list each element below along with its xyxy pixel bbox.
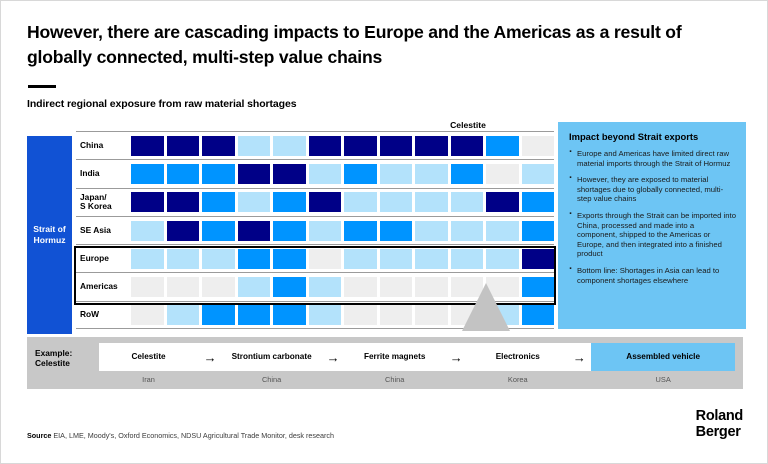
matrix-cell bbox=[380, 305, 413, 325]
matrix-cell bbox=[238, 305, 271, 325]
matrix-cell bbox=[273, 192, 306, 212]
matrix-cell bbox=[344, 249, 377, 269]
matrix-row-cells bbox=[131, 192, 554, 212]
matrix-cell bbox=[344, 277, 377, 297]
chain-step-country: USA bbox=[591, 375, 735, 384]
matrix-cell bbox=[167, 305, 200, 325]
matrix-cell bbox=[167, 192, 200, 212]
matrix-cell bbox=[380, 221, 413, 241]
matrix-cell bbox=[522, 305, 555, 325]
matrix-cell bbox=[202, 305, 235, 325]
matrix-cell bbox=[202, 136, 235, 156]
matrix-cell bbox=[451, 192, 484, 212]
matrix-cell bbox=[131, 249, 164, 269]
impact-panel: Impact beyond Strait exports Europe and … bbox=[558, 122, 746, 329]
chain-step-country: Korea bbox=[468, 375, 567, 384]
matrix-cell bbox=[486, 249, 519, 269]
matrix-cell bbox=[380, 164, 413, 184]
matrix-cell bbox=[522, 221, 555, 241]
matrix-cell bbox=[486, 164, 519, 184]
matrix-cell bbox=[131, 192, 164, 212]
matrix-cell bbox=[131, 136, 164, 156]
matrix-cell bbox=[451, 164, 484, 184]
celestite-pointer-triangle bbox=[462, 283, 510, 331]
matrix-cell bbox=[380, 192, 413, 212]
matrix-cell bbox=[273, 164, 306, 184]
matrix-cell bbox=[309, 136, 342, 156]
matrix-row-cells bbox=[131, 164, 554, 184]
matrix-row-cells bbox=[131, 136, 554, 156]
title-divider bbox=[28, 85, 56, 88]
slide-canvas: However, there are cascading impacts to … bbox=[0, 0, 768, 464]
matrix-row-label: China bbox=[76, 141, 131, 151]
matrix-cell bbox=[131, 164, 164, 184]
matrix-cell bbox=[522, 164, 555, 184]
matrix-row-cells bbox=[131, 221, 554, 241]
chain-arrow-icon: → bbox=[198, 343, 222, 371]
matrix-cell bbox=[415, 192, 448, 212]
matrix-row: Japan/S Korea bbox=[76, 188, 554, 216]
matrix-cell bbox=[451, 221, 484, 241]
matrix-cell bbox=[167, 249, 200, 269]
matrix-cell bbox=[309, 221, 342, 241]
matrix-cell bbox=[344, 221, 377, 241]
matrix-cell bbox=[522, 136, 555, 156]
matrix-cell bbox=[451, 136, 484, 156]
matrix-cell bbox=[238, 221, 271, 241]
matrix-cell bbox=[486, 221, 519, 241]
matrix-cell bbox=[415, 164, 448, 184]
matrix-cell bbox=[309, 249, 342, 269]
matrix-row-label: RoW bbox=[76, 310, 131, 320]
matrix-row-label: Americas bbox=[76, 282, 131, 292]
logo-line-1: Roland bbox=[696, 409, 743, 425]
chain-step: Electronics bbox=[468, 343, 567, 371]
matrix-cell bbox=[131, 277, 164, 297]
matrix-cell bbox=[486, 192, 519, 212]
matrix-cell bbox=[238, 277, 271, 297]
value-chain-steps: Celestite→Strontium carbonate→Ferrite ma… bbox=[99, 343, 735, 371]
matrix-row: Europe bbox=[76, 244, 554, 272]
matrix-cell bbox=[273, 136, 306, 156]
matrix-row: SE Asia bbox=[76, 216, 554, 244]
matrix-cell bbox=[238, 249, 271, 269]
matrix-cell bbox=[522, 192, 555, 212]
celestite-column-caption: Celestite bbox=[423, 120, 513, 130]
roland-berger-logo: Roland Berger bbox=[696, 409, 743, 440]
matrix-cell bbox=[131, 305, 164, 325]
matrix-cell bbox=[202, 249, 235, 269]
matrix-cell bbox=[238, 164, 271, 184]
matrix-cell bbox=[273, 221, 306, 241]
matrix-row-cells bbox=[131, 249, 554, 269]
value-chain-band: Example:Celestite Celestite→Strontium ca… bbox=[27, 337, 743, 389]
matrix-cell bbox=[415, 221, 448, 241]
page-title: However, there are cascading impacts to … bbox=[27, 20, 743, 70]
source-note: Source EIA, LME, Moody's, Oxford Economi… bbox=[27, 431, 334, 440]
chain-step: Ferrite magnets bbox=[345, 343, 444, 371]
chain-arrow-icon: → bbox=[567, 343, 591, 371]
matrix-cell bbox=[202, 164, 235, 184]
chain-arrow-icon: → bbox=[321, 343, 345, 371]
impact-panel-title: Impact beyond Strait exports bbox=[569, 131, 736, 142]
matrix-row-label: SE Asia bbox=[76, 226, 131, 236]
impact-bullet: Exports through the Strait can be import… bbox=[569, 211, 736, 259]
matrix-cell bbox=[344, 164, 377, 184]
chain-step: Strontium carbonate bbox=[222, 343, 321, 371]
matrix-row: China bbox=[76, 131, 554, 159]
impact-bullet: However, they are exposed to material sh… bbox=[569, 175, 736, 204]
matrix-cell bbox=[415, 305, 448, 325]
source-text: EIA, LME, Moody's, Oxford Economics, NDS… bbox=[53, 431, 334, 440]
chain-step: Assembled vehicle bbox=[591, 343, 735, 371]
matrix-cell bbox=[344, 136, 377, 156]
matrix-cell bbox=[415, 277, 448, 297]
matrix-cell bbox=[238, 136, 271, 156]
chain-arrow-icon: → bbox=[444, 343, 468, 371]
matrix-cell bbox=[309, 192, 342, 212]
matrix-cell bbox=[273, 249, 306, 269]
matrix-cell bbox=[131, 221, 164, 241]
matrix-cell bbox=[380, 249, 413, 269]
impact-panel-bullets: Europe and Americas have limited direct … bbox=[569, 149, 736, 285]
matrix-cell bbox=[238, 192, 271, 212]
matrix-cell bbox=[309, 164, 342, 184]
matrix-cell bbox=[309, 277, 342, 297]
matrix-cell bbox=[202, 192, 235, 212]
chain-step-country: Iran bbox=[99, 375, 198, 384]
logo-line-2: Berger bbox=[696, 425, 743, 441]
matrix-cell bbox=[202, 221, 235, 241]
matrix-row-label: India bbox=[76, 169, 131, 179]
matrix-cell bbox=[380, 277, 413, 297]
value-chain-example-label: Example:Celestite bbox=[35, 348, 93, 368]
matrix-cell bbox=[273, 305, 306, 325]
chain-step: Celestite bbox=[99, 343, 198, 371]
matrix-cell bbox=[273, 277, 306, 297]
matrix-cell bbox=[167, 136, 200, 156]
matrix-cell bbox=[167, 164, 200, 184]
matrix-row-label: Japan/S Korea bbox=[76, 193, 131, 212]
matrix-cell bbox=[344, 192, 377, 212]
value-chain-countries: IranChinaChinaKoreaUSA bbox=[99, 373, 735, 386]
matrix-row-label: Europe bbox=[76, 254, 131, 264]
chain-step-country: China bbox=[345, 375, 444, 384]
impact-bullet: Bottom line: Shortages in Asia can lead … bbox=[569, 266, 736, 285]
strait-of-hormuz-band: Strait of Hormuz bbox=[27, 136, 72, 334]
matrix-cell bbox=[202, 277, 235, 297]
matrix-cell bbox=[522, 277, 555, 297]
matrix-cell bbox=[167, 221, 200, 241]
chain-step-country: China bbox=[222, 375, 321, 384]
matrix-cell bbox=[309, 305, 342, 325]
matrix-cell bbox=[522, 249, 555, 269]
matrix-cell bbox=[167, 277, 200, 297]
subtitle: Indirect regional exposure from raw mate… bbox=[27, 98, 296, 110]
matrix-cell bbox=[344, 305, 377, 325]
matrix-row: India bbox=[76, 159, 554, 187]
matrix-cell bbox=[486, 136, 519, 156]
source-label: Source bbox=[27, 431, 51, 440]
matrix-cell bbox=[380, 136, 413, 156]
matrix-cell bbox=[415, 249, 448, 269]
impact-bullet: Europe and Americas have limited direct … bbox=[569, 149, 736, 168]
matrix-cell bbox=[451, 249, 484, 269]
matrix-cell bbox=[415, 136, 448, 156]
